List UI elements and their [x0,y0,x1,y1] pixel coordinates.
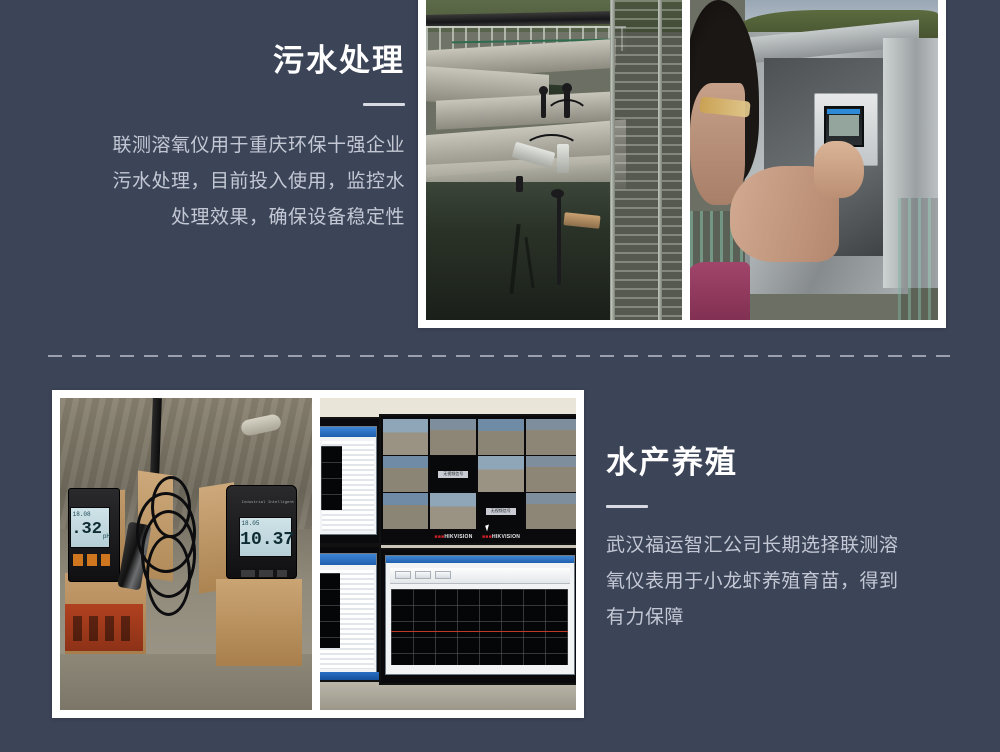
photo-wastewater-tank [426,0,682,320]
aquaculture-photo-frame: 18.08 .32 pH Industrial Intelligent 18.0… [52,390,584,718]
wastewater-photo-frame [418,0,946,328]
aquaculture-description-line-1: 武汉福运智汇公司长期选择联测溶 [606,528,966,564]
right-meter-reading: 10.37 [240,531,294,549]
aquaculture-description: 武汉福运智汇公司长期选择联测溶 氧仪表用于小龙虾养殖育苗，得到 有力保障 [606,528,966,636]
hikvision-logo-1: ■■■HIKVISION [434,534,472,540]
hikvision-logo-text-2: HIKVISION [492,534,520,540]
left-meter-unit: pH [103,534,110,540]
wastewater-description-line-1: 联测溶氧仪用于重庆环保十强企业 [20,128,405,164]
wastewater-description: 联测溶氧仪用于重庆环保十强企业 污水处理，目前投入使用，监控水 处理效果，确保设… [20,128,405,236]
title-rule-aquaculture [606,505,648,508]
photo-technician-cabinet [690,0,938,320]
right-meter-brand: Industrial Intelligent [241,501,294,505]
wastewater-text-block: 污水处理 联测溶氧仪用于重庆环保十强企业 污水处理，目前投入使用，监控水 处理效… [20,42,405,236]
aquaculture-description-line-3: 有力保障 [606,600,966,636]
hikvision-logo-2: ■■■HIKVISION [482,534,520,540]
page-title-aquaculture: 水产养殖 [606,444,966,481]
wastewater-description-line-2: 污水处理，目前投入使用，监控水 [20,164,405,200]
left-meter-reading: .32 [71,521,102,538]
page-title-wastewater: 污水处理 [20,42,405,79]
no-signal-badge-1: 无视频信号 [438,471,468,477]
photo-do-meters: 18.08 .32 pH Industrial Intelligent 18.0… [60,398,312,710]
left-meter-header: 18.08 [73,512,91,518]
hikvision-logo-text-1: HIKVISION [444,534,472,540]
aquaculture-text-block: 水产养殖 武汉福运智汇公司长期选择联测溶 氧仪表用于小龙虾养殖育苗，得到 有力保… [606,444,966,636]
dashed-divider [48,355,953,357]
photo-monitor-wall: 无视频信号 无视频信号 ■■■HIKVISION ■■■HIKVISION [320,398,576,710]
wastewater-description-line-3: 处理效果，确保设备稳定性 [20,200,405,236]
aquaculture-description-line-2: 氧仪表用于小龙虾养殖育苗，得到 [606,564,966,600]
right-meter-header: 18.05 [241,521,259,527]
no-signal-badge-2: 无视频信号 [486,508,516,514]
promo-page: 污水处理 联测溶氧仪用于重庆环保十强企业 污水处理，目前投入使用，监控水 处理效… [0,0,1000,752]
title-rule-wastewater [363,103,405,106]
